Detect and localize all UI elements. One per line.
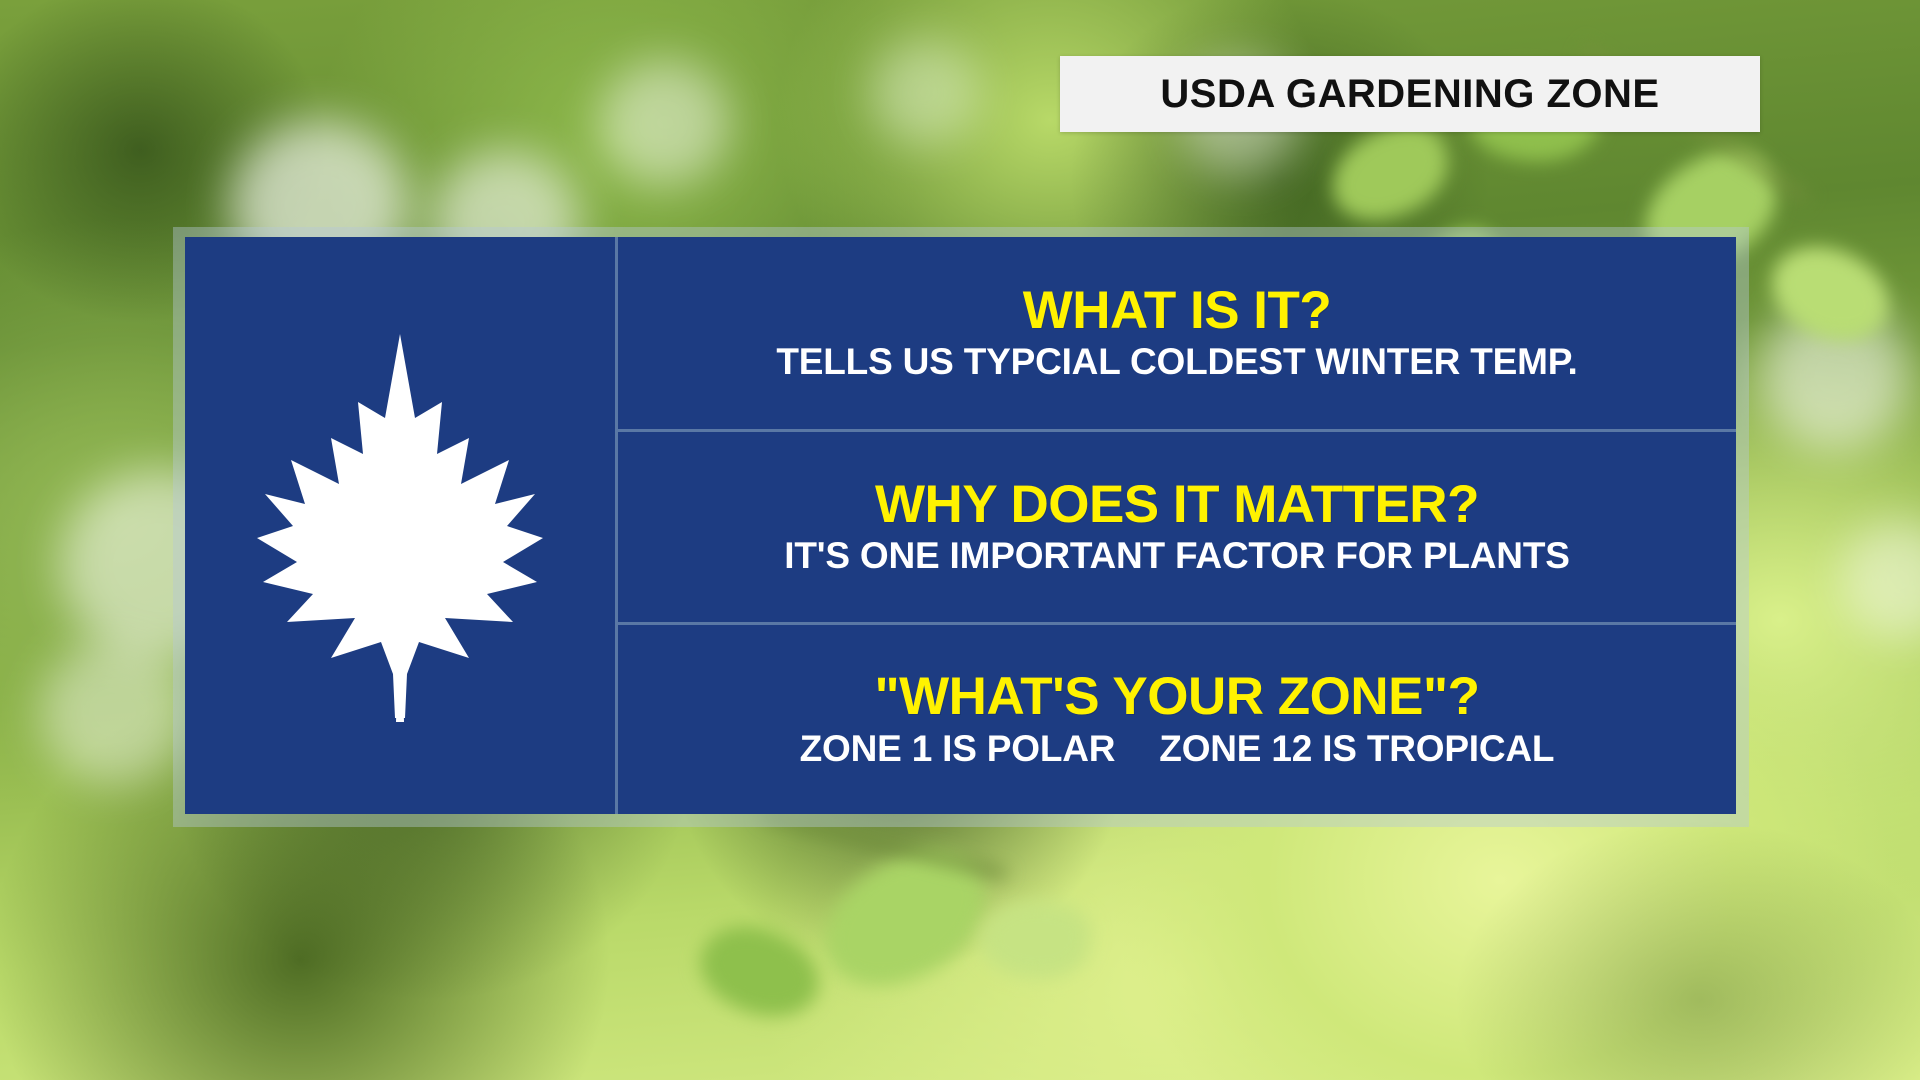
row-subtitle-pair: ZONE 1 IS POLAR ZONE 12 IS TROPICAL — [800, 729, 1555, 770]
row-title: "WHAT'S YOUR ZONE"? — [875, 669, 1480, 724]
leaf-illustration-cell — [185, 237, 615, 814]
info-row-your-zone: "WHAT'S YOUR ZONE"? ZONE 1 IS POLAR ZONE… — [618, 622, 1736, 814]
row-title: WHAT IS IT? — [1023, 283, 1332, 338]
zone-high-label: ZONE 12 IS TROPICAL — [1159, 729, 1554, 770]
usda-zone-title-banner: USDA GARDENING ZONE — [1060, 56, 1760, 132]
info-panel: WHAT IS IT? TELLS US TYPCIAL COLDEST WIN… — [185, 237, 1736, 814]
row-subtitle: TELLS US TYPCIAL COLDEST WINTER TEMP. — [776, 342, 1577, 383]
info-row-what-is-it: WHAT IS IT? TELLS US TYPCIAL COLDEST WIN… — [618, 237, 1736, 429]
info-panel-frame: WHAT IS IT? TELLS US TYPCIAL COLDEST WIN… — [173, 227, 1749, 827]
zone-low-label: ZONE 1 IS POLAR — [800, 729, 1116, 770]
info-rows: WHAT IS IT? TELLS US TYPCIAL COLDEST WIN… — [618, 237, 1736, 814]
row-subtitle: IT'S ONE IMPORTANT FACTOR FOR PLANTS — [784, 536, 1569, 577]
maple-leaf-icon — [235, 326, 565, 726]
page-title: USDA GARDENING ZONE — [1160, 72, 1659, 117]
slide-canvas: USDA GARDENING ZONE WHAT IS IT? TELLS US… — [0, 0, 1920, 1080]
info-row-why-matter: WHY DOES IT MATTER? IT'S ONE IMPORTANT F… — [618, 429, 1736, 621]
row-title: WHY DOES IT MATTER? — [875, 477, 1479, 532]
